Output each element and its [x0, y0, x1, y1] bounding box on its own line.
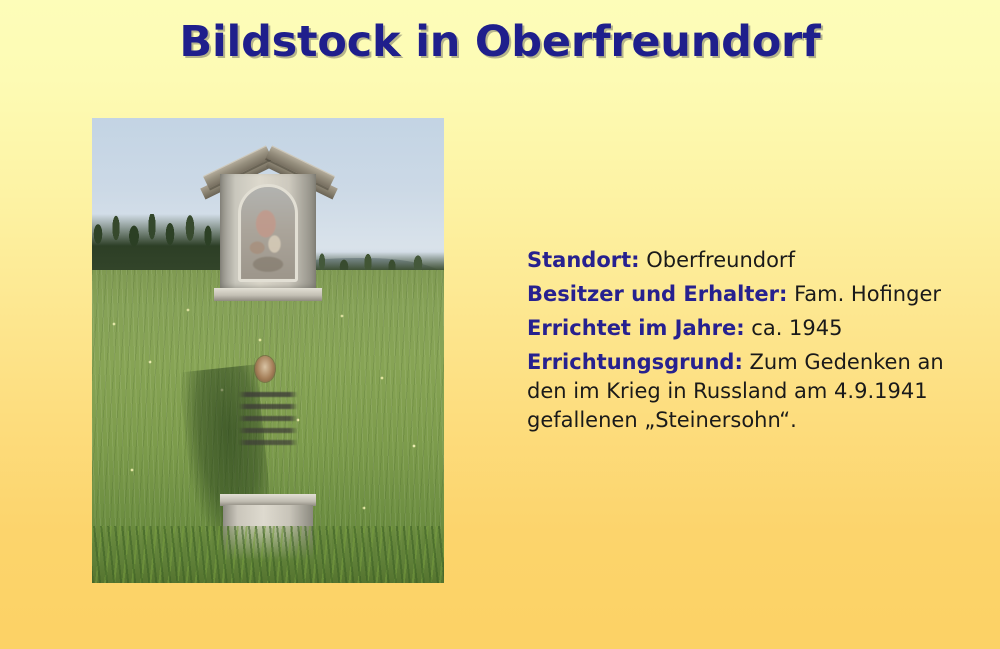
- page-title: Bildstock in Oberfreundorf: [0, 17, 1000, 67]
- info-entry-besitzer: Besitzer und Erhalter: Fam. Hofinger: [527, 280, 975, 309]
- info-label-errichtet: Errichtet im Jahre:: [527, 316, 745, 340]
- info-label-standort: Standort:: [527, 248, 640, 272]
- pillar-capital: [214, 288, 322, 301]
- slide-root: Bildstock in Oberfreundorf St: [0, 0, 1000, 649]
- info-value-errichtet: ca. 1945: [751, 316, 842, 340]
- portrait-medallion: [255, 356, 275, 382]
- info-value-standort: Oberfreundorf: [646, 248, 795, 272]
- info-label-besitzer: Besitzer und Erhalter:: [527, 282, 787, 306]
- shrine-photo: [92, 118, 444, 583]
- fresco-painting: [241, 187, 295, 279]
- info-entry-errichtet: Errichtet im Jahre: ca. 1945: [527, 314, 975, 343]
- info-label-errichtungsgrund: Errichtungsgrund:: [527, 350, 743, 374]
- arched-niche: [238, 184, 298, 282]
- foreground-grass: [92, 526, 444, 583]
- info-entry-errichtungsgrund: Errichtungsgrund: Zum Gedenken an den im…: [527, 348, 975, 435]
- info-value-besitzer: Fam. Hofinger: [794, 282, 941, 306]
- info-block: Standort: Oberfreundorf Besitzer und Erh…: [527, 246, 975, 440]
- info-entry-standort: Standort: Oberfreundorf: [527, 246, 975, 275]
- fraktur-inscription: [238, 390, 298, 460]
